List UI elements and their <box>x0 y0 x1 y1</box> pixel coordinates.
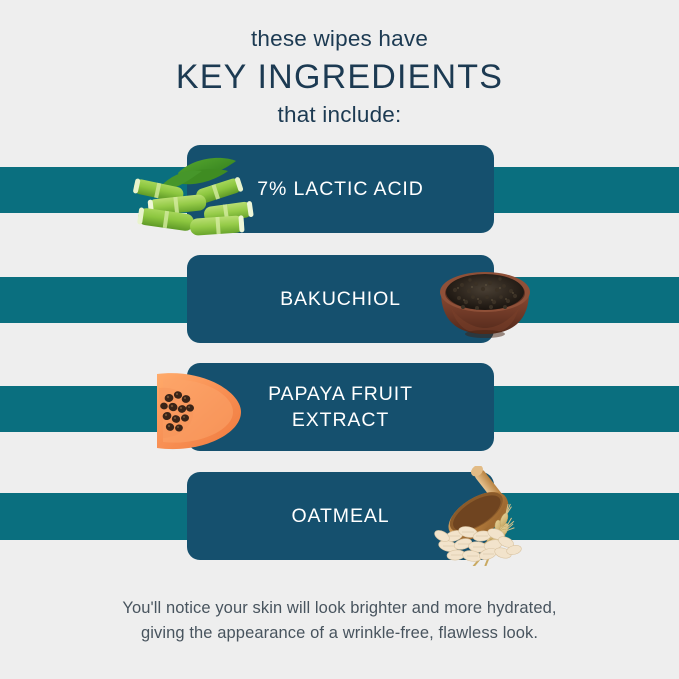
ingredient-card-oatmeal[interactable]: OATMEAL <box>187 472 494 560</box>
ingredient-label: BAKUCHIOL <box>280 286 401 312</box>
ingredient-label: 7% LACTIC ACID <box>257 176 423 202</box>
ingredient-card-papaya-fruit-extract[interactable]: PAPAYA FRUIT EXTRACT <box>187 363 494 451</box>
footer-text: You'll notice your skin will look bright… <box>0 596 679 646</box>
ingredient-label: PAPAYA FRUIT EXTRACT <box>268 381 413 433</box>
ingredients-infographic: these wipes have KEY INGREDIENTS that in… <box>0 0 679 679</box>
ingredient-card-bakuchiol[interactable]: BAKUCHIOL <box>187 255 494 343</box>
footer-line-2: giving the appearance of a wrinkle-free,… <box>0 621 679 646</box>
ingredient-card-lactic-acid[interactable]: 7% LACTIC ACID <box>187 145 494 233</box>
ingredient-label: OATMEAL <box>291 503 389 529</box>
footer-line-1: You'll notice your skin will look bright… <box>0 596 679 621</box>
header-eyebrow: these wipes have <box>0 24 679 54</box>
header-subtitle: that include: <box>0 100 679 130</box>
header-block: these wipes have KEY INGREDIENTS that in… <box>0 24 679 130</box>
page-title: KEY INGREDIENTS <box>0 56 679 98</box>
